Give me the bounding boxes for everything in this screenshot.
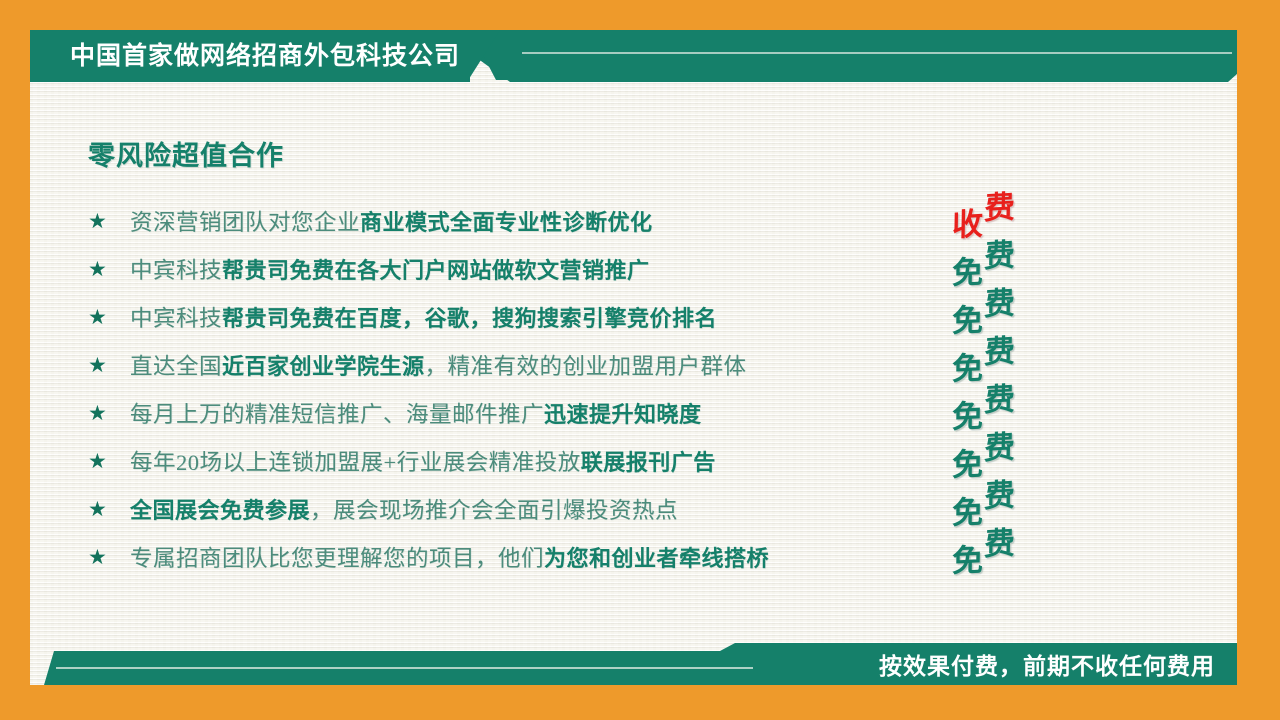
star-bullet-icon: ★	[88, 355, 130, 376]
text-plain-tail: ，展会现场推介会全面引爆投资热点	[310, 498, 678, 523]
text-emphasis: 商业模式全面专业性诊断优化	[360, 210, 653, 235]
price-badge: 免费	[950, 288, 1070, 336]
price-char-first: 免	[952, 544, 983, 577]
price-char-first: 免	[952, 400, 983, 433]
text-emphasis: 近百家创业学院生源	[222, 354, 425, 379]
text-emphasis: 帮贵司免费在各大门户网站做软文营销推广	[222, 258, 650, 283]
text-plain-lead: 资深营销团队对您企业	[130, 210, 360, 235]
footer-hairline	[56, 667, 753, 669]
footer-band: 按效果付费，前期不收任何费用	[30, 643, 1237, 685]
list-item: ★每月上万的精准短信推广、海量邮件推广迅速提升知晓度	[88, 389, 1088, 437]
benefit-list: ★资深营销团队对您企业商业模式全面专业性诊断优化★中宾科技帮贵司免费在各大门户网…	[88, 197, 1088, 581]
list-item-text: 中宾科技帮贵司免费在百度，谷歌，搜狗搜索引擎竞价排名	[130, 301, 1088, 333]
footer-tagline: 按效果付费，前期不收任何费用	[879, 643, 1215, 685]
list-item: ★直达全国近百家创业学院生源，精准有效的创业加盟用户群体	[88, 341, 1088, 389]
text-emphasis: 迅速提升知晓度	[544, 402, 702, 427]
text-plain-lead: 每月上万的精准短信推广、海量邮件推广	[130, 402, 544, 427]
price-char-first: 免	[952, 304, 983, 337]
price-char-second: 费	[984, 527, 1015, 560]
price-badge: 免费	[950, 432, 1070, 480]
price-char-second: 费	[984, 335, 1015, 368]
text-plain-tail: ，精准有效的创业加盟用户群体	[425, 354, 747, 379]
list-item-text: 全国展会免费参展，展会现场推介会全面引爆投资热点	[130, 493, 1088, 525]
price-char-second: 费	[984, 431, 1015, 464]
star-bullet-icon: ★	[88, 499, 130, 520]
list-item: ★专属招商团队比您更理解您的项目，他们为您和创业者牵线搭桥	[88, 533, 1088, 581]
price-char-first: 收	[952, 208, 983, 241]
price-char-second: 费	[984, 191, 1015, 224]
price-char-second: 费	[984, 287, 1015, 320]
header-hairline	[522, 52, 1232, 54]
list-item: ★全国展会免费参展，展会现场推介会全面引爆投资热点	[88, 485, 1088, 533]
price-char-first: 免	[952, 352, 983, 385]
slide-root: 中国首家做网络招商外包科技公司 零风险超值合作 ★资深营销团队对您企业商业模式全…	[0, 0, 1280, 720]
price-char-first: 免	[952, 496, 983, 529]
price-char-first: 免	[952, 256, 983, 289]
text-plain-lead: 专属招商团队比您更理解您的项目，他们	[130, 546, 544, 571]
price-badge: 免费	[950, 480, 1070, 528]
header-thin-strip	[470, 30, 1237, 80]
text-emphasis: 全国展会免费参展	[130, 498, 310, 523]
list-item: ★中宾科技帮贵司免费在各大门户网站做软文营销推广	[88, 245, 1088, 293]
star-bullet-icon: ★	[88, 547, 130, 568]
price-badge: 免费	[950, 240, 1070, 288]
text-plain-lead: 中宾科技	[130, 306, 222, 331]
price-badge: 免费	[950, 384, 1070, 432]
header-title: 中国首家做网络招商外包科技公司	[70, 30, 460, 82]
text-plain-lead: 中宾科技	[130, 258, 222, 283]
header-band: 中国首家做网络招商外包科技公司	[30, 30, 1237, 82]
list-item-text: 专属招商团队比您更理解您的项目，他们为您和创业者牵线搭桥	[130, 541, 1088, 573]
list-item-text: 每年20场以上连锁加盟展+行业展会精准投放联展报刊广告	[130, 445, 1088, 477]
list-item-text: 资深营销团队对您企业商业模式全面专业性诊断优化	[130, 205, 1088, 237]
price-char-first: 免	[952, 448, 983, 481]
price-column: 收费免费免费免费免费免费免费免费	[950, 192, 1070, 576]
star-bullet-icon: ★	[88, 307, 130, 328]
list-item: ★资深营销团队对您企业商业模式全面专业性诊断优化	[88, 197, 1088, 245]
text-emphasis: 为您和创业者牵线搭桥	[544, 546, 769, 571]
star-bullet-icon: ★	[88, 211, 130, 232]
price-badge: 免费	[950, 528, 1070, 576]
text-plain-lead: 直达全国	[130, 354, 222, 379]
price-char-second: 费	[984, 479, 1015, 512]
list-item-text: 每月上万的精准短信推广、海量邮件推广迅速提升知晓度	[130, 397, 1088, 429]
list-item-text: 直达全国近百家创业学院生源，精准有效的创业加盟用户群体	[130, 349, 1088, 381]
price-badge: 收费	[950, 192, 1070, 240]
price-char-second: 费	[984, 383, 1015, 416]
star-bullet-icon: ★	[88, 403, 130, 424]
text-emphasis: 帮贵司免费在百度，谷歌，搜狗搜索引擎竞价排名	[222, 306, 717, 331]
star-bullet-icon: ★	[88, 259, 130, 280]
text-emphasis: 联展报刊广告	[581, 450, 716, 475]
price-badge: 免费	[950, 336, 1070, 384]
list-item-text: 中宾科技帮贵司免费在各大门户网站做软文营销推广	[130, 253, 1088, 285]
list-item: ★每年20场以上连锁加盟展+行业展会精准投放联展报刊广告	[88, 437, 1088, 485]
text-plain-lead: 每年20场以上连锁加盟展+行业展会精准投放	[130, 450, 581, 475]
list-item: ★中宾科技帮贵司免费在百度，谷歌，搜狗搜索引擎竞价排名	[88, 293, 1088, 341]
section-title: 零风险超值合作	[88, 134, 284, 173]
star-bullet-icon: ★	[88, 451, 130, 472]
price-char-second: 费	[984, 239, 1015, 272]
